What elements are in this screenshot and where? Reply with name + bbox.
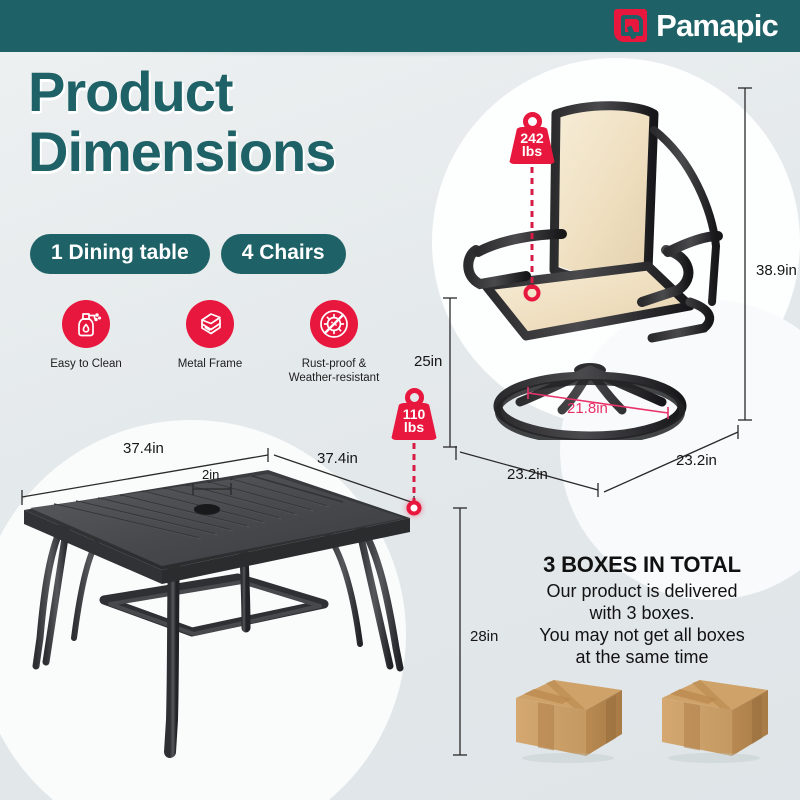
page-title: Product Dimensions xyxy=(28,62,335,182)
page-title-line2: Dimensions xyxy=(28,122,335,182)
feature-label-rust-proof: Rust-proof & Weather-resistant xyxy=(272,357,396,386)
packaging-line1: Our product is delivered xyxy=(546,581,737,601)
pill-chairs: 4 Chairs xyxy=(221,234,346,274)
table-weight-capacity-tag: 110 lbs xyxy=(391,388,437,440)
contents-pills: 1 Dining table 4 Chairs xyxy=(30,234,346,274)
packaging-line2: with 3 boxes. xyxy=(589,603,694,623)
packaging-info: 3 BOXES IN TOTAL Our product is delivere… xyxy=(492,552,792,669)
table-length-label: 37.4in xyxy=(123,440,164,457)
feature-list: Easy to Clean Metal Frame xyxy=(24,300,396,386)
weight-mass-icon: 242 lbs xyxy=(509,127,555,164)
carton-illustrations xyxy=(510,672,774,764)
packaging-title: 3 BOXES IN TOTAL xyxy=(492,552,792,578)
infographic-page: Pamapic Product Dimensions 1 Dining tabl… xyxy=(0,0,800,800)
table-illustration xyxy=(6,452,426,800)
feature-label-easy-to-clean: Easy to Clean xyxy=(24,357,148,371)
carton-box-icon xyxy=(510,672,628,764)
pamapic-r-logo-icon xyxy=(614,9,647,42)
metal-layers-icon xyxy=(186,300,234,348)
chair-weight-badge: 242 lbs xyxy=(509,112,555,164)
table-weight-unit: lbs xyxy=(391,421,437,434)
feature-metal-frame: Metal Frame xyxy=(148,300,272,386)
feature-label-rust-proof-line2: Weather-resistant xyxy=(289,372,380,384)
carton-box-icon xyxy=(656,672,774,764)
chair-weight-capacity-tag: 242 lbs xyxy=(509,112,555,164)
chair-seat-height-label: 25in xyxy=(414,353,442,370)
brand-name: Pamapic xyxy=(656,9,778,42)
brand-logo: Pamapic xyxy=(614,9,778,42)
weight-mass-icon: 110 lbs xyxy=(391,403,437,440)
chair-height-label: 38.9in xyxy=(756,262,797,279)
table-weight-dashed-line xyxy=(413,443,416,505)
feature-label-metal-frame: Metal Frame xyxy=(148,357,272,371)
table-umbrella-hole-label: 2in xyxy=(202,467,219,482)
packaging-line4: at the same time xyxy=(575,647,708,667)
rust-proof-icon xyxy=(310,300,358,348)
table-width-label: 37.4in xyxy=(317,450,358,467)
chair-depth-label: 23.2in xyxy=(676,452,717,469)
chair-weight-dashed-line xyxy=(531,167,534,289)
chair-width-label: 23.2in xyxy=(507,466,548,483)
chair-weight-unit: lbs xyxy=(509,145,555,158)
page-title-line1: Product xyxy=(28,60,233,123)
chair-base-diameter-label: 21.8in xyxy=(567,400,608,417)
pill-dining-table: 1 Dining table xyxy=(30,234,210,274)
packaging-line3: You may not get all boxes xyxy=(539,625,744,645)
feature-label-rust-proof-line1: Rust-proof & xyxy=(302,358,367,370)
chair-weight-target-ring xyxy=(524,285,541,302)
chair-illustration xyxy=(440,70,770,440)
packaging-description: Our product is delivered with 3 boxes. Y… xyxy=(492,581,792,669)
feature-easy-to-clean: Easy to Clean xyxy=(24,300,148,386)
table-weight-target-dot xyxy=(407,501,422,516)
spray-bottle-icon xyxy=(62,300,110,348)
table-height-label: 28in xyxy=(470,628,498,645)
table-weight-badge: 110 lbs xyxy=(391,388,437,440)
feature-rust-proof: Rust-proof & Weather-resistant xyxy=(272,300,396,386)
